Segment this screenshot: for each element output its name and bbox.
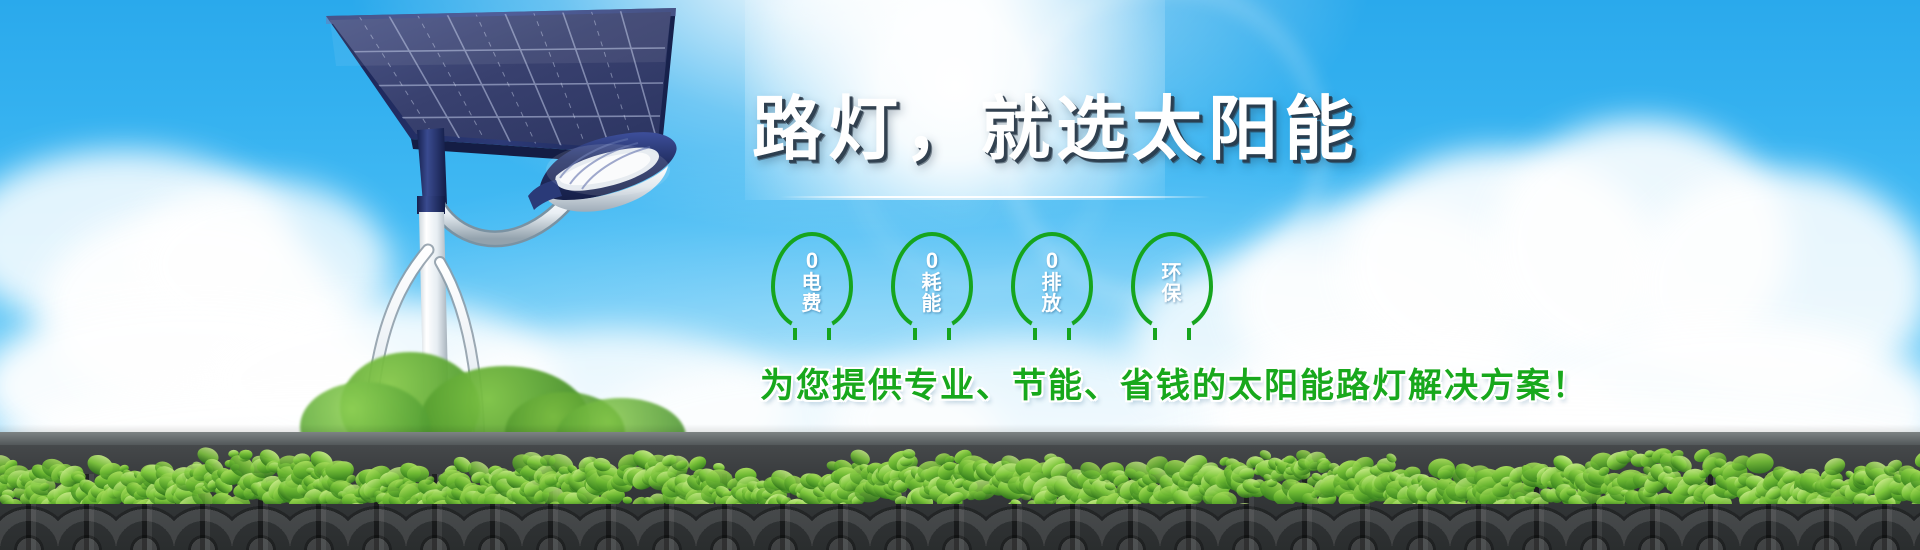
page-title: 路灯，就选太阳能: [752, 92, 1360, 166]
feature-badge-3-text: 环 保: [1162, 263, 1183, 305]
feature-badge-0-char-2: 费: [802, 294, 823, 315]
feature-badge-1: 0 耗 能: [882, 232, 982, 332]
lightbulb-base-icon: [913, 328, 951, 340]
feature-badge-2-text: 0 排 放: [1042, 249, 1063, 315]
feature-badge-3: 环 保: [1122, 232, 1222, 332]
lightbulb-base-icon: [1153, 328, 1191, 340]
feature-badge-1-char-1: 耗: [922, 273, 943, 294]
title-divider: [780, 196, 1210, 198]
feature-badge-3-char-2: 保: [1162, 284, 1183, 305]
feature-badge-2-value: 0: [1042, 249, 1063, 272]
feature-badge-list: 0 电 费 0 耗 能: [762, 232, 1222, 332]
feature-badge-0-char-1: 电: [802, 273, 823, 294]
lightbulb-base-icon: [1033, 328, 1071, 340]
banner-tagline: 为您提供专业、节能、省钱的太阳能路灯解决方案！: [760, 358, 1588, 407]
feature-badge-2: 0 排 放: [1002, 232, 1102, 332]
feature-badge-2-label: 排 放: [1042, 273, 1063, 315]
feature-badge-1-label: 耗 能: [922, 273, 943, 315]
feature-badge-1-char-2: 能: [922, 294, 943, 315]
lightbulb-base-icon: [793, 328, 831, 340]
feature-badge-2-char-1: 排: [1042, 273, 1063, 294]
feature-badge-1-value: 0: [922, 249, 943, 272]
feature-badge-1-text: 0 耗 能: [922, 249, 943, 315]
banner-copy: 路灯，就选太阳能 0 电 费 0: [0, 0, 1920, 550]
feature-badge-3-char-1: 环: [1162, 263, 1183, 284]
feature-badge-0-label: 电 费: [802, 273, 823, 315]
feature-badge-0: 0 电 费: [762, 232, 862, 332]
feature-badge-3-label: 环 保: [1162, 263, 1183, 305]
solar-street-light-banner: 路灯，就选太阳能 0 电 费 0: [0, 0, 1920, 550]
feature-badge-2-char-2: 放: [1042, 294, 1063, 315]
feature-badge-0-value: 0: [802, 249, 823, 272]
feature-badge-0-text: 0 电 费: [802, 249, 823, 315]
